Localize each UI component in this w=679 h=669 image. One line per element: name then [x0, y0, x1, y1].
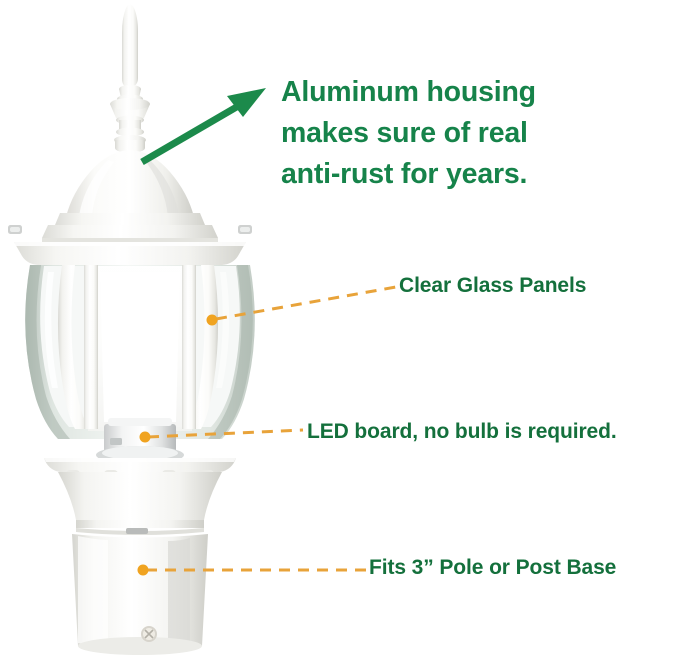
- callout-label-clear-glass-panels: Clear Glass Panels: [399, 274, 586, 298]
- cap-screw-right: [238, 225, 252, 234]
- callout-label-post-base: Fits 3” Pole or Post Base: [369, 556, 616, 580]
- product-feature-callout-image: Aluminum housing makes sure of real anti…: [0, 0, 679, 669]
- glass-panel-body: [25, 265, 255, 439]
- cap-screw-left: [8, 225, 22, 234]
- callout-label-led-board: LED board, no bulb is required.: [307, 420, 617, 444]
- post-base: [72, 534, 208, 655]
- led-board-module: [96, 418, 184, 464]
- base-screw: [141, 626, 157, 642]
- finial: [110, 5, 150, 154]
- collar: [44, 458, 236, 535]
- headline-aluminum-housing: Aluminum housing makes sure of real anti…: [281, 72, 581, 195]
- stepped-cap: [8, 213, 252, 265]
- dome-housing: [66, 150, 194, 217]
- post-lantern-illustration: [0, 0, 280, 669]
